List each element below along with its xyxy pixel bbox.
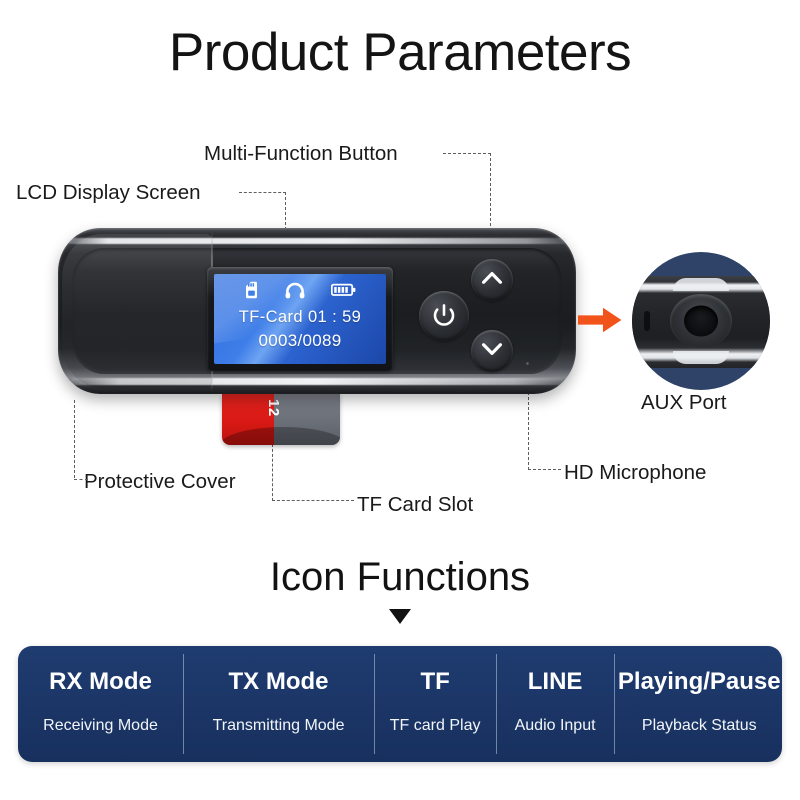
power-button[interactable]: [419, 291, 469, 341]
callout-label-protective-cover: Protective Cover: [84, 472, 236, 493]
caret-down-icon: [389, 609, 411, 624]
icon-function-subtitle: Audio Input: [515, 718, 596, 734]
page-title: Product Parameters: [0, 26, 800, 79]
icon-function-title: TF: [420, 670, 449, 694]
chevron-up-icon: [481, 270, 503, 291]
tf-card: 12: [222, 393, 340, 445]
product-parameters-infographic: Product Parameters LCD Display Screen Mu…: [0, 0, 800, 800]
hd-microphone-hole: [526, 362, 529, 365]
leader-line-tfslot-vertical: [272, 444, 273, 501]
aux-port-notch-bottom: [673, 351, 729, 364]
leader-line-mfb-horizontal: [443, 153, 491, 154]
leader-line-cover-vertical: [74, 400, 75, 478]
icon-function-column-playing: Playing/Pause Playback Status: [614, 646, 785, 762]
icon-functions-table: RX Mode Receiving Mode TX Mode Transmitt…: [18, 646, 782, 762]
battery-icon: [331, 283, 356, 302]
leader-line-mic-horizontal: [528, 469, 561, 470]
callout-label-lcd-display-screen: LCD Display Screen: [16, 183, 201, 204]
icon-function-title: Playing/Pause: [618, 670, 781, 694]
volume-down-button[interactable]: [471, 330, 513, 372]
icon-function-column-tx: TX Mode Transmitting Mode: [183, 646, 374, 762]
icon-function-subtitle: Transmitting Mode: [213, 718, 345, 734]
icon-function-title: LINE: [528, 670, 583, 694]
zoom-arrow-icon: [578, 307, 622, 333]
lcd-line-track-counter: 0003/0089: [214, 331, 386, 351]
icon-function-column-line: LINE Audio Input: [496, 646, 614, 762]
device-trim-bottom: [70, 378, 564, 385]
section-title-icon-functions: Icon Functions: [0, 557, 800, 597]
aux-jack-hole: [684, 306, 718, 337]
lcd-screen-surface: TF-Card 01 : 59 0003/0089: [214, 274, 386, 364]
icon-function-title: TX Mode: [229, 670, 329, 694]
aux-port-notch-top: [673, 278, 729, 291]
aux-jack-ring: [670, 294, 732, 348]
lcd-display-screen: TF-Card 01 : 59 0003/0089: [207, 267, 393, 371]
callout-label-multi-function-button: Multi-Function Button: [204, 144, 398, 165]
chevron-down-icon: [481, 341, 503, 362]
leader-line-mic-vertical: [528, 382, 529, 470]
callout-label-hd-microphone: HD Microphone: [564, 463, 706, 484]
leader-line-tfslot-horizontal: [272, 500, 354, 501]
headphone-icon: [285, 282, 305, 304]
callout-label-tf-card-slot: TF Card Slot: [357, 495, 473, 516]
icon-function-subtitle: Playback Status: [642, 718, 757, 734]
icon-function-column-rx: RX Mode Receiving Mode: [18, 646, 183, 762]
icon-function-column-tf: TF TF card Play: [374, 646, 496, 762]
leader-line-lcd-horizontal: [239, 192, 286, 193]
lcd-status-icon-row: [214, 281, 386, 304]
device-trim-top: [68, 238, 566, 244]
tf-card-icon: [244, 281, 259, 304]
volume-up-button[interactable]: [471, 259, 513, 301]
lcd-line-mode-time: TF-Card 01 : 59: [214, 308, 386, 327]
tf-card-capacity-label: 12: [265, 399, 282, 417]
callout-label-aux-port: AUX Port: [641, 393, 726, 414]
power-icon: [430, 300, 458, 333]
aux-port-side-slot: [644, 311, 650, 331]
icon-function-subtitle: TF card Play: [390, 718, 481, 734]
icon-function-subtitle: Receiving Mode: [43, 718, 158, 734]
aux-port-closeup: [632, 252, 770, 390]
icon-function-title: RX Mode: [49, 670, 152, 694]
